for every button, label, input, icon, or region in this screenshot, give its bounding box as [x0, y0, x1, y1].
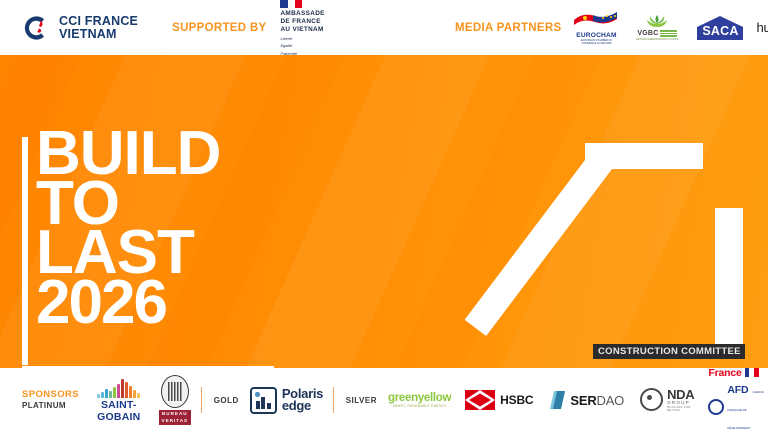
polaris-building-icon: [250, 387, 277, 414]
french-embassy-logo: AMBASSADE DE FRANCE AU VIETNAM Liberté É…: [280, 0, 324, 56]
cci-line-1: CCI FRANCE: [59, 15, 138, 28]
embassy-motto-2: Égalité: [280, 43, 324, 49]
headline-bracket-vertical: [22, 137, 28, 365]
footer-divider-1: [201, 387, 202, 413]
hsbc-name: HSBC: [500, 393, 533, 407]
france-afd-logo: France AFD AGENCE FRANÇAISE DE DÉVELOPPE…: [708, 367, 768, 432]
france-flag-icon: [745, 368, 759, 377]
silver-label: SILVER: [346, 396, 377, 405]
construction-committee-badge: CONSTRUCTION COMMITTEE: [593, 344, 745, 359]
saca-name: SACA: [696, 24, 744, 38]
afd-name: AFD: [727, 384, 748, 396]
saint-gobain-name: SAINT-GOBAIN: [95, 399, 142, 423]
footer-divider-2: [333, 387, 334, 413]
bureau-veritas-name-2: VERITAS: [162, 418, 189, 424]
hero-panel: BUILD TO LAST 2026 CONSTRUCTION COMMITTE…: [0, 55, 768, 368]
bureau-veritas-name: BUREAU VERITAS: [159, 410, 192, 425]
cci-line-2: VIETNAM: [59, 28, 138, 41]
eurocham-flag-icon: [573, 10, 619, 27]
afd-tagline: AGENCE FRANÇAISE DE DÉVELOPPEMENT: [727, 391, 763, 430]
greenyellow-logo: greenyellow SMART, RENEWABLE ENERGY: [388, 392, 451, 408]
media-partners-label: MEDIA PARTNERS: [455, 22, 561, 34]
headline-block: BUILD TO LAST 2026: [36, 129, 336, 327]
hubexo-logo: hubexo: [756, 20, 768, 35]
vgbc-sub: VIETNAM GREEN BUILDING COUNCIL: [631, 38, 683, 41]
nda-name: NDA: [667, 388, 694, 402]
embassy-line-2: DE FRANCE: [280, 18, 324, 26]
french-flag-icon: [280, 0, 302, 8]
eurocham-name: EUROCHAM: [573, 32, 619, 39]
polaris-name-2: edge: [282, 400, 323, 412]
saint-gobain-skyline-icon: [95, 378, 142, 398]
polaris-edge-logo: Polaris edge: [250, 387, 323, 414]
saca-logo: SACA: [696, 15, 744, 41]
vgbc-lotus-icon: [645, 14, 669, 30]
embassy-motto-1: Liberté: [280, 36, 324, 42]
afd-circle-icon: [708, 399, 724, 415]
serdao-logo: SERDAO: [549, 390, 624, 410]
nda-group-logo: NDA GROUP BUILDING FOR BETTER: [640, 388, 694, 412]
bureau-veritas-emblem-icon: [161, 375, 189, 408]
eurocham-logo: EUROCHAM EUROPEAN CHAMBER OF COMMERCE IN…: [573, 10, 619, 46]
cci-wordmark: CCI FRANCE VIETNAM: [59, 15, 138, 41]
media-partners-group: MEDIA PARTNERS EUROCHAM EUROPEAN CHAMBER…: [455, 0, 768, 55]
afd-wordmark: AFD AGENCE FRANÇAISE DE DÉVELOPPEMENT: [727, 380, 768, 432]
serdao-mark-icon: [549, 390, 566, 410]
bureau-veritas-name-1: BUREAU: [162, 411, 189, 417]
saint-gobain-logo: SAINT-GOBAIN: [95, 378, 142, 423]
vgbc-logo: VGBC VIETNAM GREEN BUILDING COUNCIL: [631, 14, 683, 41]
embassy-line-1: AMBASSADE: [280, 10, 324, 18]
cci-france-vietnam-logo: CCI FRANCE VIETNAM: [22, 13, 138, 43]
vgbc-bars-icon: [660, 30, 677, 37]
greenyellow-sub: SMART, RENEWABLE ENERGY: [388, 404, 451, 408]
hsbc-hexagon-icon: [465, 390, 495, 410]
sponsors-footer-bar: SPONSORS PLATINUM SAINT-GOBAIN BUREAU VE…: [0, 368, 768, 432]
hsbc-logo: HSBC: [465, 390, 533, 410]
bureau-veritas-logo: BUREAU VERITAS: [159, 375, 192, 425]
edition-number-71-graphic: [585, 140, 750, 345]
embassy-line-3: AU VIETNAM: [280, 26, 324, 34]
nda-tagline: BUILDING FOR BETTER: [667, 406, 694, 412]
sponsors-heading: SPONSORS PLATINUM: [22, 389, 79, 411]
polaris-wordmark: Polaris edge: [282, 388, 323, 412]
cci-circle-flame-icon: [22, 13, 52, 43]
gold-label: GOLD: [214, 396, 239, 405]
nda-circle-icon: [640, 388, 663, 411]
vgbc-name: VGBC: [637, 30, 658, 37]
event-poster: CCI FRANCE VIETNAM SUPPORTED BY AMBASSAD…: [0, 0, 768, 432]
sponsors-label: SPONSORS: [22, 389, 79, 401]
france-label: France: [708, 367, 741, 379]
eurocham-sub: EUROPEAN CHAMBER OF COMMERCE IN VIETNAM: [573, 39, 619, 46]
partner-header-bar: CCI FRANCE VIETNAM SUPPORTED BY AMBASSAD…: [0, 0, 768, 55]
serdao-name-2: DAO: [597, 393, 625, 408]
platinum-label: PLATINUM: [22, 401, 79, 411]
serdao-name-1: SER: [570, 393, 596, 408]
greenyellow-name: greenyellow: [388, 392, 451, 404]
serdao-wordmark: SERDAO: [570, 393, 624, 408]
nda-wordmark: NDA GROUP BUILDING FOR BETTER: [667, 388, 694, 412]
supported-by-label: SUPPORTED BY: [172, 22, 266, 34]
